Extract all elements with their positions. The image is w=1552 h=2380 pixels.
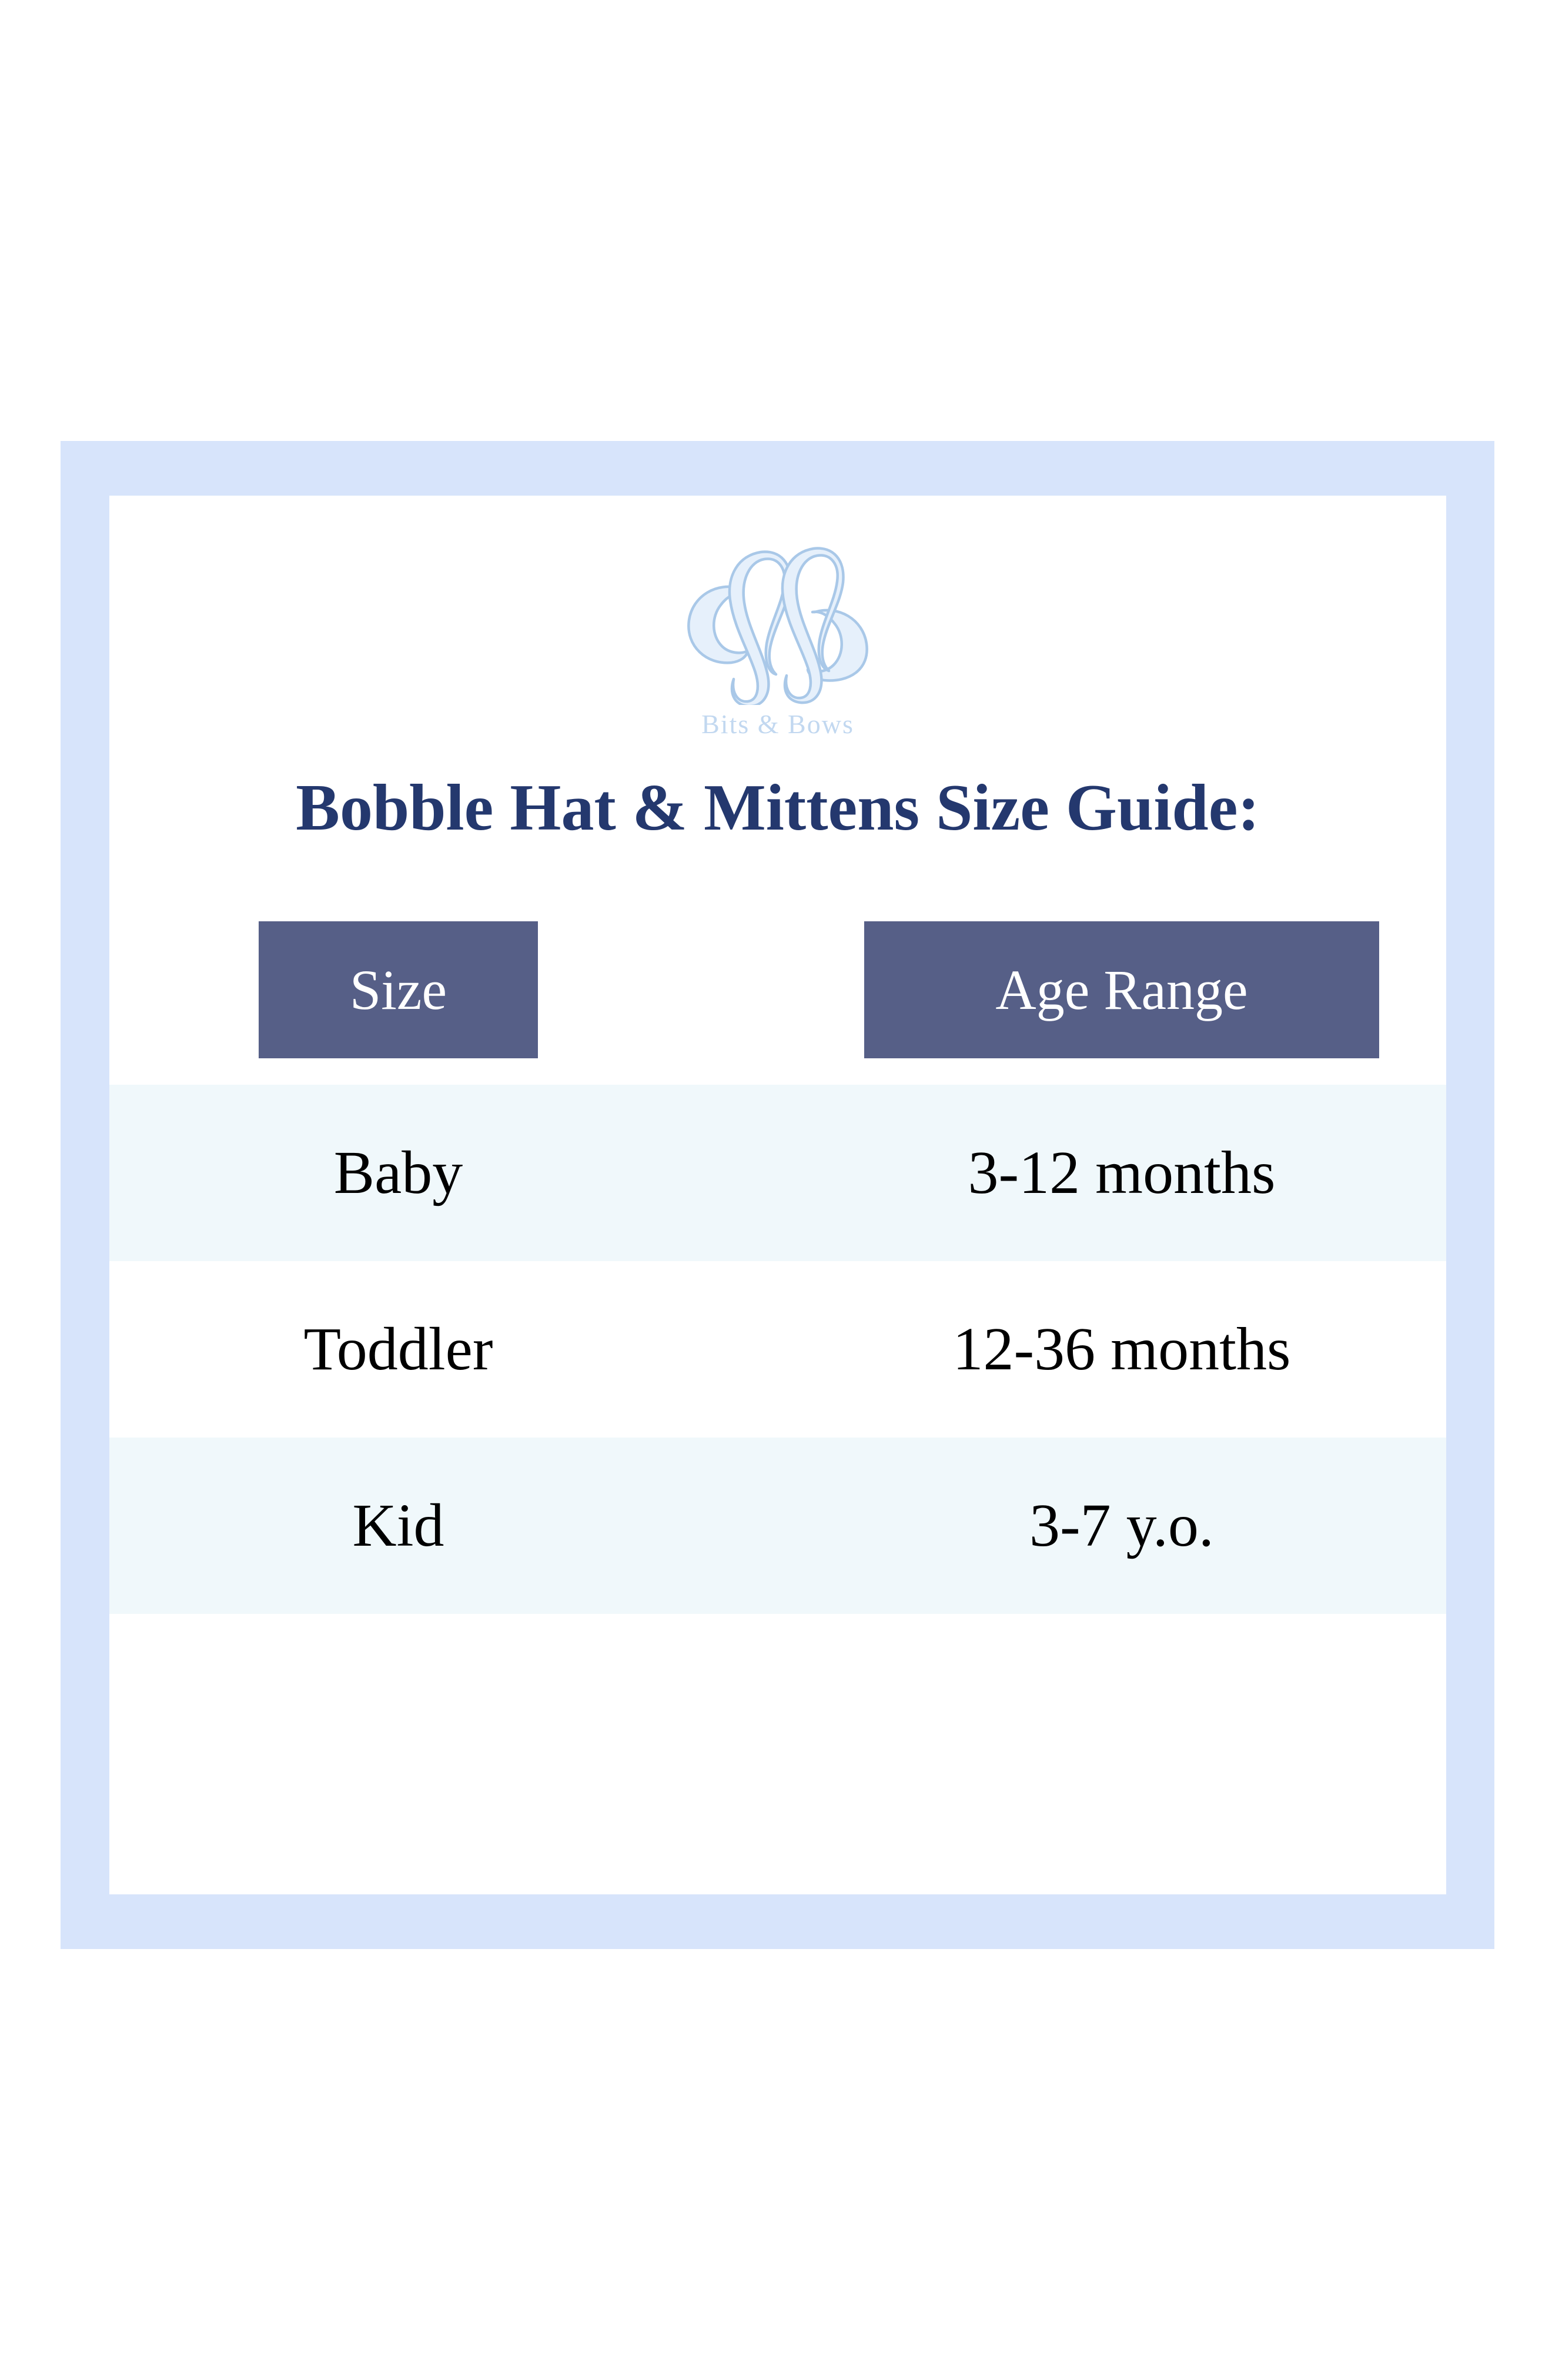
brand-wordmark: Bits & Bows	[701, 711, 854, 738]
table-header-row: Size Age Range	[109, 921, 1446, 1058]
bits-and-bows-monogram-icon	[675, 534, 881, 705]
cell-age-range: 12-36 months	[864, 1319, 1379, 1380]
size-guide-card: Bits & Bows Bobble Hat & Mittens Size Gu…	[109, 496, 1446, 1894]
brand-logo: Bits & Bows	[109, 496, 1446, 743]
table-row-empty	[109, 1614, 1446, 1790]
table-header-size: Size	[259, 921, 538, 1058]
cell-age-range: 3-12 months	[864, 1142, 1379, 1204]
size-table: Size Age Range Baby 3-12 months Toddler …	[109, 921, 1446, 1790]
table-header-age-range: Age Range	[864, 921, 1379, 1058]
table-row: Baby 3-12 months	[109, 1085, 1446, 1261]
cell-size: Kid	[259, 1495, 538, 1556]
page-title: Bobble Hat & Mittens Size Guide:	[109, 772, 1446, 844]
table-header-gap	[109, 1058, 1446, 1085]
cell-size: Toddler	[259, 1319, 538, 1380]
table-row: Kid 3-7 y.o.	[109, 1438, 1446, 1614]
cell-age-range: 3-7 y.o.	[864, 1495, 1379, 1556]
cell-size: Baby	[259, 1142, 538, 1204]
table-row: Toddler 12-36 months	[109, 1261, 1446, 1438]
